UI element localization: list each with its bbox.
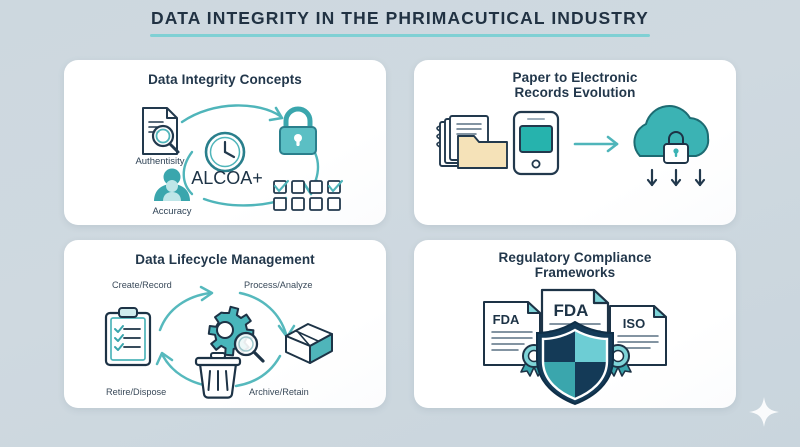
sparkle-icon: [748, 396, 780, 428]
card-data-integrity-concepts[interactable]: Data Integrity Concepts: [64, 60, 386, 225]
paper-to-electronic-art: [414, 60, 736, 225]
label-process-analyze: Process/Analyze: [244, 280, 312, 290]
card-grid: Data Integrity Concepts: [64, 60, 736, 408]
checkbox-grid-icon: [274, 181, 342, 210]
certificate-label-fda-center: FDA: [554, 301, 589, 320]
clock-icon: [206, 133, 244, 171]
regulatory-compliance-art: FDA ISO: [414, 240, 736, 408]
trash-icon: [196, 353, 240, 398]
page-header: DATA INTEGRITY IN THE PHRIMACUTICAL INDU…: [0, 8, 800, 37]
page-title: DATA INTEGRITY IN THE PHRIMACUTICAL INDU…: [0, 8, 800, 29]
download-arrows-icon: [648, 170, 704, 185]
card-regulatory-compliance-frameworks[interactable]: Regulatory Compliance Frameworks FDA: [414, 240, 736, 408]
shield-icon: [534, 322, 620, 408]
clipboard-icon: [106, 308, 150, 365]
document-magnifier-icon: [143, 108, 178, 154]
label-archive-retain: Archive/Retain: [249, 387, 309, 397]
certificate-label-iso: ISO: [623, 316, 645, 331]
lock-icon: [280, 109, 316, 154]
label-authentisity: Authentisity: [135, 156, 184, 167]
certificate-label-fda-left: FDA: [493, 312, 520, 327]
card-paper-to-electronic[interactable]: Paper to Electronic Records Evolution: [414, 60, 736, 225]
tablet-icon: [514, 112, 558, 174]
cloud-lock-icon: [634, 106, 708, 163]
label-create-record: Create/Record: [112, 280, 172, 290]
data-lifecycle-management-art: Create/Record Process/Analyze Archive/Re…: [64, 240, 386, 408]
data-integrity-concepts-art: Authentisity Accurac: [64, 60, 386, 225]
alcoa-label: ALCOA+: [191, 168, 263, 188]
arrow-right-icon: [575, 137, 617, 151]
card-data-lifecycle-management[interactable]: Data Lifecycle Management: [64, 240, 386, 408]
label-accuracy: Accuracy: [152, 206, 191, 217]
title-underline: [150, 34, 650, 37]
label-retire-dispose: Retire/Dispose: [106, 387, 166, 397]
